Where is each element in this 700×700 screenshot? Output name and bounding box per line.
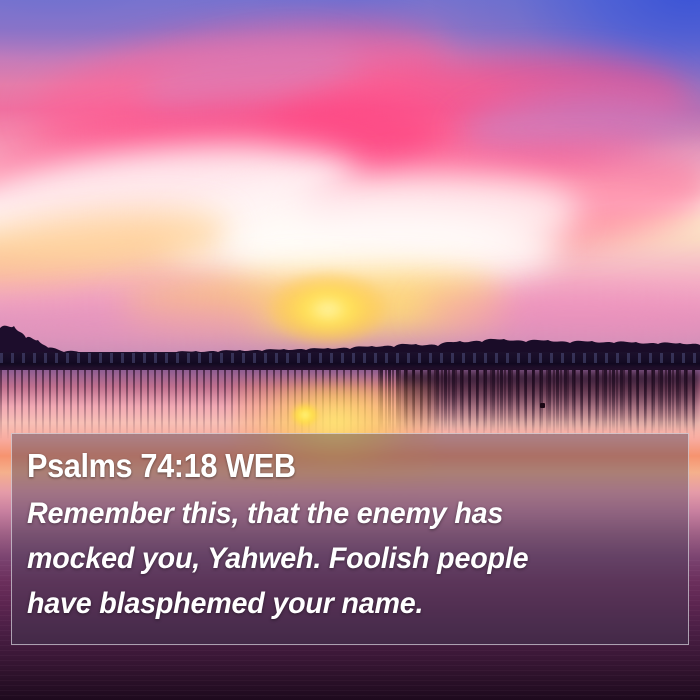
verse-text-line: have blasphemed your name. [27, 581, 658, 626]
water-sun-reflection-point [292, 404, 318, 426]
verse-text-block: Remember this, that the enemy has mocked… [27, 491, 688, 626]
verse-reference: Psalms 74:18 WEB [27, 446, 642, 486]
verse-overlay-panel: Psalms 74:18 WEB Remember this, that the… [11, 433, 689, 645]
verse-text-line: Remember this, that the enemy has [27, 491, 658, 536]
far-shore-lights [0, 353, 700, 363]
verse-image-canvas: Psalms 74:18 WEB Remember this, that the… [0, 0, 700, 700]
verse-text-line: mocked you, Yahweh. Foolish people [27, 536, 658, 581]
buoy-marker [540, 403, 545, 408]
